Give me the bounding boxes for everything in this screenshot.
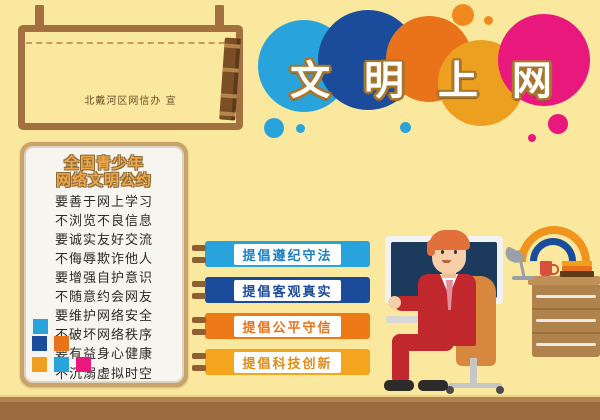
circle-orange-dot bbox=[484, 16, 493, 25]
banner-label: 提倡遵纪守法 bbox=[234, 244, 340, 265]
wooden-frame bbox=[18, 25, 243, 130]
banner-tab-icon bbox=[192, 353, 206, 359]
banner-tab-icon bbox=[192, 317, 206, 323]
banner-tab-icon bbox=[192, 281, 206, 287]
circle-lightblue-small bbox=[264, 118, 284, 138]
pledge-line: 要增强自护意识 bbox=[30, 269, 178, 288]
person-sideburn bbox=[427, 240, 435, 256]
pledge-title-line1: 全国青少年 bbox=[30, 155, 178, 172]
person-shoe bbox=[384, 380, 414, 391]
chair-wheel-icon bbox=[496, 386, 504, 394]
circle-magenta-small bbox=[548, 114, 568, 134]
circle-orange-small bbox=[452, 4, 474, 26]
frame-dashed-line bbox=[26, 42, 235, 44]
banner-item-4[interactable]: 提倡科技创新 bbox=[205, 349, 370, 375]
desk-drawer-divider bbox=[532, 308, 600, 310]
book-stack-icon bbox=[560, 271, 594, 277]
person-hair bbox=[429, 230, 470, 250]
circle-magenta-dot bbox=[528, 134, 536, 142]
pledge-line: 要诚实友好交流 bbox=[30, 231, 178, 250]
pledge-line: 不随意约会网友 bbox=[30, 288, 178, 307]
desk-drawer-divider bbox=[532, 332, 600, 334]
person-eye bbox=[454, 250, 457, 254]
pledge-card-inner: 全国青少年 网络文明公约 要善于网上学习 不浏览不良信息 要诚实友好交流 不侮辱… bbox=[24, 146, 184, 383]
circle-lightblue-dot bbox=[296, 124, 305, 133]
person-hand bbox=[388, 296, 401, 309]
banner-tab-icon bbox=[192, 365, 206, 371]
banner-label: 提倡科技创新 bbox=[234, 352, 340, 373]
desk-drawer-handle bbox=[536, 319, 596, 322]
desk-lamp-base bbox=[512, 276, 534, 280]
banner-tab-icon bbox=[192, 329, 206, 335]
banner-label: 提倡客观真实 bbox=[234, 280, 340, 301]
desk-drawer-handle bbox=[536, 295, 596, 298]
pledge-line: 要善于网上学习 bbox=[30, 193, 178, 212]
person-shoe bbox=[418, 380, 448, 391]
pledge-title-line2: 网络文明公约 bbox=[30, 172, 178, 189]
swatch-lightblue bbox=[33, 319, 48, 334]
poster-canvas: 北戴河区网信办 宣 文 明 上 网 全国青少年 网络文明公约 要善于网上学习 不… bbox=[0, 0, 600, 420]
swatch-amber bbox=[32, 357, 47, 372]
person-shin bbox=[392, 334, 409, 386]
office-chair-base bbox=[448, 383, 502, 388]
color-swatch-group bbox=[31, 318, 111, 377]
person-eye bbox=[441, 250, 444, 254]
banner-item-3[interactable]: 提倡公平守信 bbox=[205, 313, 370, 339]
banner-item-1[interactable]: 提倡遵纪守法 bbox=[205, 241, 370, 267]
pledge-line: 不浏览不良信息 bbox=[30, 212, 178, 231]
banner-tab-icon bbox=[192, 245, 206, 251]
pledge-card: 全国青少年 网络文明公约 要善于网上学习 不浏览不良信息 要诚实友好交流 不侮辱… bbox=[20, 142, 188, 387]
title-block: 文 明 上 网 bbox=[252, 2, 600, 142]
floor-strip bbox=[0, 402, 600, 420]
swatch-navy bbox=[32, 336, 47, 351]
banner-tab-icon bbox=[192, 293, 206, 299]
desk-top bbox=[528, 276, 600, 285]
page-title: 文 明 上 网 bbox=[252, 48, 600, 106]
banner-tab-icon bbox=[192, 257, 206, 263]
swatch-orange bbox=[54, 336, 69, 351]
office-chair-pole bbox=[470, 358, 477, 386]
office-scene-illustration bbox=[380, 228, 600, 403]
circle-blue-dot bbox=[400, 122, 411, 133]
banner-item-2[interactable]: 提倡客观真实 bbox=[205, 277, 370, 303]
frame-credit-text: 北戴河区网信办 宣 bbox=[18, 92, 243, 107]
desk-drawer-handle bbox=[536, 343, 596, 346]
pledge-line: 不侮辱欺诈他人 bbox=[30, 250, 178, 269]
banner-label: 提倡公平守信 bbox=[234, 316, 340, 337]
swatch-blue bbox=[54, 357, 69, 372]
swatch-magenta bbox=[76, 357, 91, 372]
